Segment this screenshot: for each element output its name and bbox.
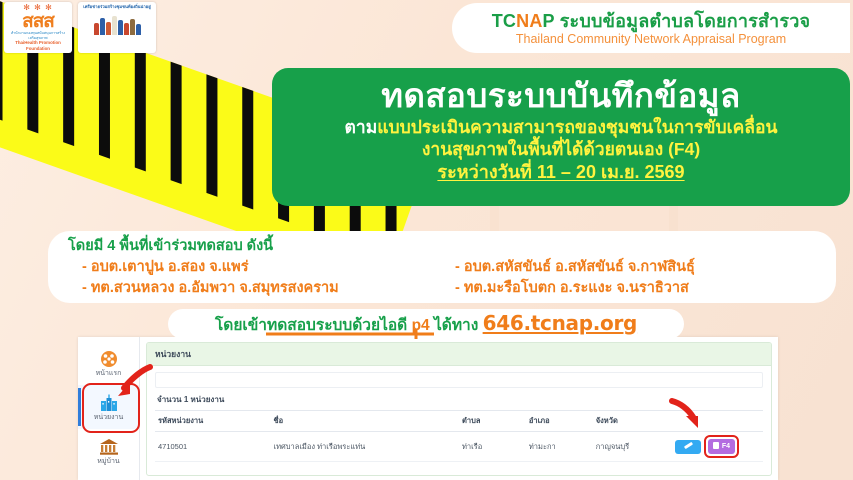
edit-button[interactable] bbox=[675, 440, 701, 454]
poster-root: สสส ✻ ✻ ✻ สสส สำนักงานกองทุนสนับสนุนการส… bbox=[0, 0, 853, 480]
logo-group: ✻ ✻ ✻ สสส สำนักงานกองทุนสนับสนุนการสร้าง… bbox=[4, 2, 156, 53]
network-logo: เครือข่ายร่วมสร้างชุมชนท้องถิ่นน่าอยู่ bbox=[78, 2, 156, 53]
announcement-banner: ทดสอบระบบบันทึกข้อมูล ตามแบบประเมินความส… bbox=[272, 68, 850, 206]
red-arrow-f4-icon bbox=[668, 398, 710, 432]
pointer-line-icon bbox=[266, 329, 436, 339]
column-header-subdistrict: ตำบล bbox=[459, 411, 526, 432]
thaihealth-logo-text: สสส bbox=[7, 12, 69, 31]
app-subtitle: Thailand Community Network Appraisal Pro… bbox=[516, 32, 786, 46]
column-header-code: รหัสหน่วยงาน bbox=[155, 411, 271, 432]
access-instruction-middle: ได้ทาง bbox=[430, 317, 483, 334]
red-arrow-sidebar-icon bbox=[104, 364, 154, 402]
banner-subtitle-yellow: แบบประเมินความสามารถของชุมชนในการขับเคลื… bbox=[377, 117, 777, 137]
f4-button-wrapper: F4 bbox=[708, 439, 735, 454]
app-title-p: P bbox=[543, 11, 555, 31]
cell-name: เทศบาลเมือง ท่าเรือพระแท่น bbox=[271, 432, 459, 462]
app-title-tc: TC bbox=[492, 11, 516, 31]
app-sidebar: หน้าแรก หน่วยงาน bbox=[78, 337, 140, 480]
search-input[interactable] bbox=[155, 372, 763, 388]
participating-areas-card: โดยมี 4 พื้นที่เข้าร่วมทดสอบ ดังนี้ - อบ… bbox=[48, 231, 836, 303]
areas-grid: - อบต.เตาปูน อ.สอง จ.แพร่ - ทต.สวนหลวง อ… bbox=[68, 257, 822, 299]
banner-title: ทดสอบระบบบันทึกข้อมูล bbox=[381, 76, 741, 116]
app-title-na: NA bbox=[516, 11, 542, 31]
network-logo-figures-icon bbox=[81, 9, 153, 35]
column-header-district: อำเภอ bbox=[526, 411, 593, 432]
highlight-box-f4 bbox=[704, 435, 739, 458]
cell-subdistrict: ท่าเรือ bbox=[459, 432, 526, 462]
cell-district: ท่ามะกา bbox=[526, 432, 593, 462]
thaihealth-logo-sub2: ThaiHealth Promotion Foundation bbox=[7, 40, 69, 51]
cell-province: กาญจนบุรี bbox=[593, 432, 672, 462]
list-item: - อบต.สหัสขันธ์ อ.สหัสขันธ์ จ.กาฬสินธุ์ bbox=[445, 257, 822, 278]
sidebar-item-village[interactable]: หมู่บ้าน bbox=[78, 429, 139, 473]
areas-heading: โดยมี 4 พื้นที่เข้าร่วมทดสอบ ดังนี้ bbox=[68, 237, 822, 256]
cell-actions: F4 bbox=[672, 432, 763, 462]
sidebar-item-village-label: หมู่บ้าน bbox=[97, 458, 119, 466]
banner-subtitle-line1: ตามแบบประเมินความสามารถของชุมชนในการขับเ… bbox=[345, 116, 778, 138]
list-item: - ทต.มะรือโบตก อ.ระแงะ จ.นราธิวาส bbox=[445, 278, 822, 299]
network-logo-text: เครือข่ายร่วมสร้างชุมชนท้องถิ่นน่าอยู่ bbox=[81, 4, 153, 9]
temple-icon bbox=[98, 437, 120, 457]
thaihealth-logo-sub: สำนักงานกองทุนสนับสนุนการสร้างเสริมสุขภา… bbox=[7, 31, 69, 40]
list-item: - อบต.เตาปูน อ.สอง จ.แพร่ bbox=[68, 257, 445, 278]
areas-column-left: - อบต.เตาปูน อ.สอง จ.แพร่ - ทต.สวนหลวง อ… bbox=[68, 257, 445, 299]
banner-subtitle-line2: งานสุขภาพในพื้นที่ได้ด้วยตนเอง (F4) bbox=[422, 138, 700, 160]
app-title-thai: ระบบข้อมูลตำบลโดยการสำรวจ bbox=[554, 11, 810, 31]
banner-date-range: ระหว่างวันที่ 11 – 20 เม.ย. 2569 bbox=[437, 161, 684, 183]
app-title-bar: TCNAP ระบบข้อมูลตำบลโดยการสำรวจ Thailand… bbox=[452, 3, 850, 53]
access-url-link[interactable]: 646.tcnap.org bbox=[483, 311, 637, 335]
panel-title: หน่วยงาน bbox=[147, 343, 771, 366]
cell-code: 4710501 bbox=[155, 432, 271, 462]
banner-subtitle-white: ตาม bbox=[345, 117, 378, 137]
thaihealth-logo: ✻ ✻ ✻ สสส สำนักงานกองทุนสนับสนุนการสร้าง… bbox=[4, 2, 72, 53]
sidebar-item-organization-label: หน่วยงาน bbox=[94, 414, 124, 422]
column-header-province: จังหวัด bbox=[593, 411, 672, 432]
areas-column-right: - อบต.สหัสขันธ์ อ.สหัสขันธ์ จ.กาฬสินธุ์ … bbox=[445, 257, 822, 299]
table-row: 4710501 เทศบาลเมือง ท่าเรือพระแท่น ท่าเร… bbox=[155, 432, 763, 462]
column-header-name: ชื่อ bbox=[271, 411, 459, 432]
app-title: TCNAP ระบบข้อมูลตำบลโดยการสำรวจ bbox=[492, 11, 811, 31]
list-item: - ทต.สวนหลวง อ.อัมพวา จ.สมุทรสงคราม bbox=[68, 278, 445, 299]
